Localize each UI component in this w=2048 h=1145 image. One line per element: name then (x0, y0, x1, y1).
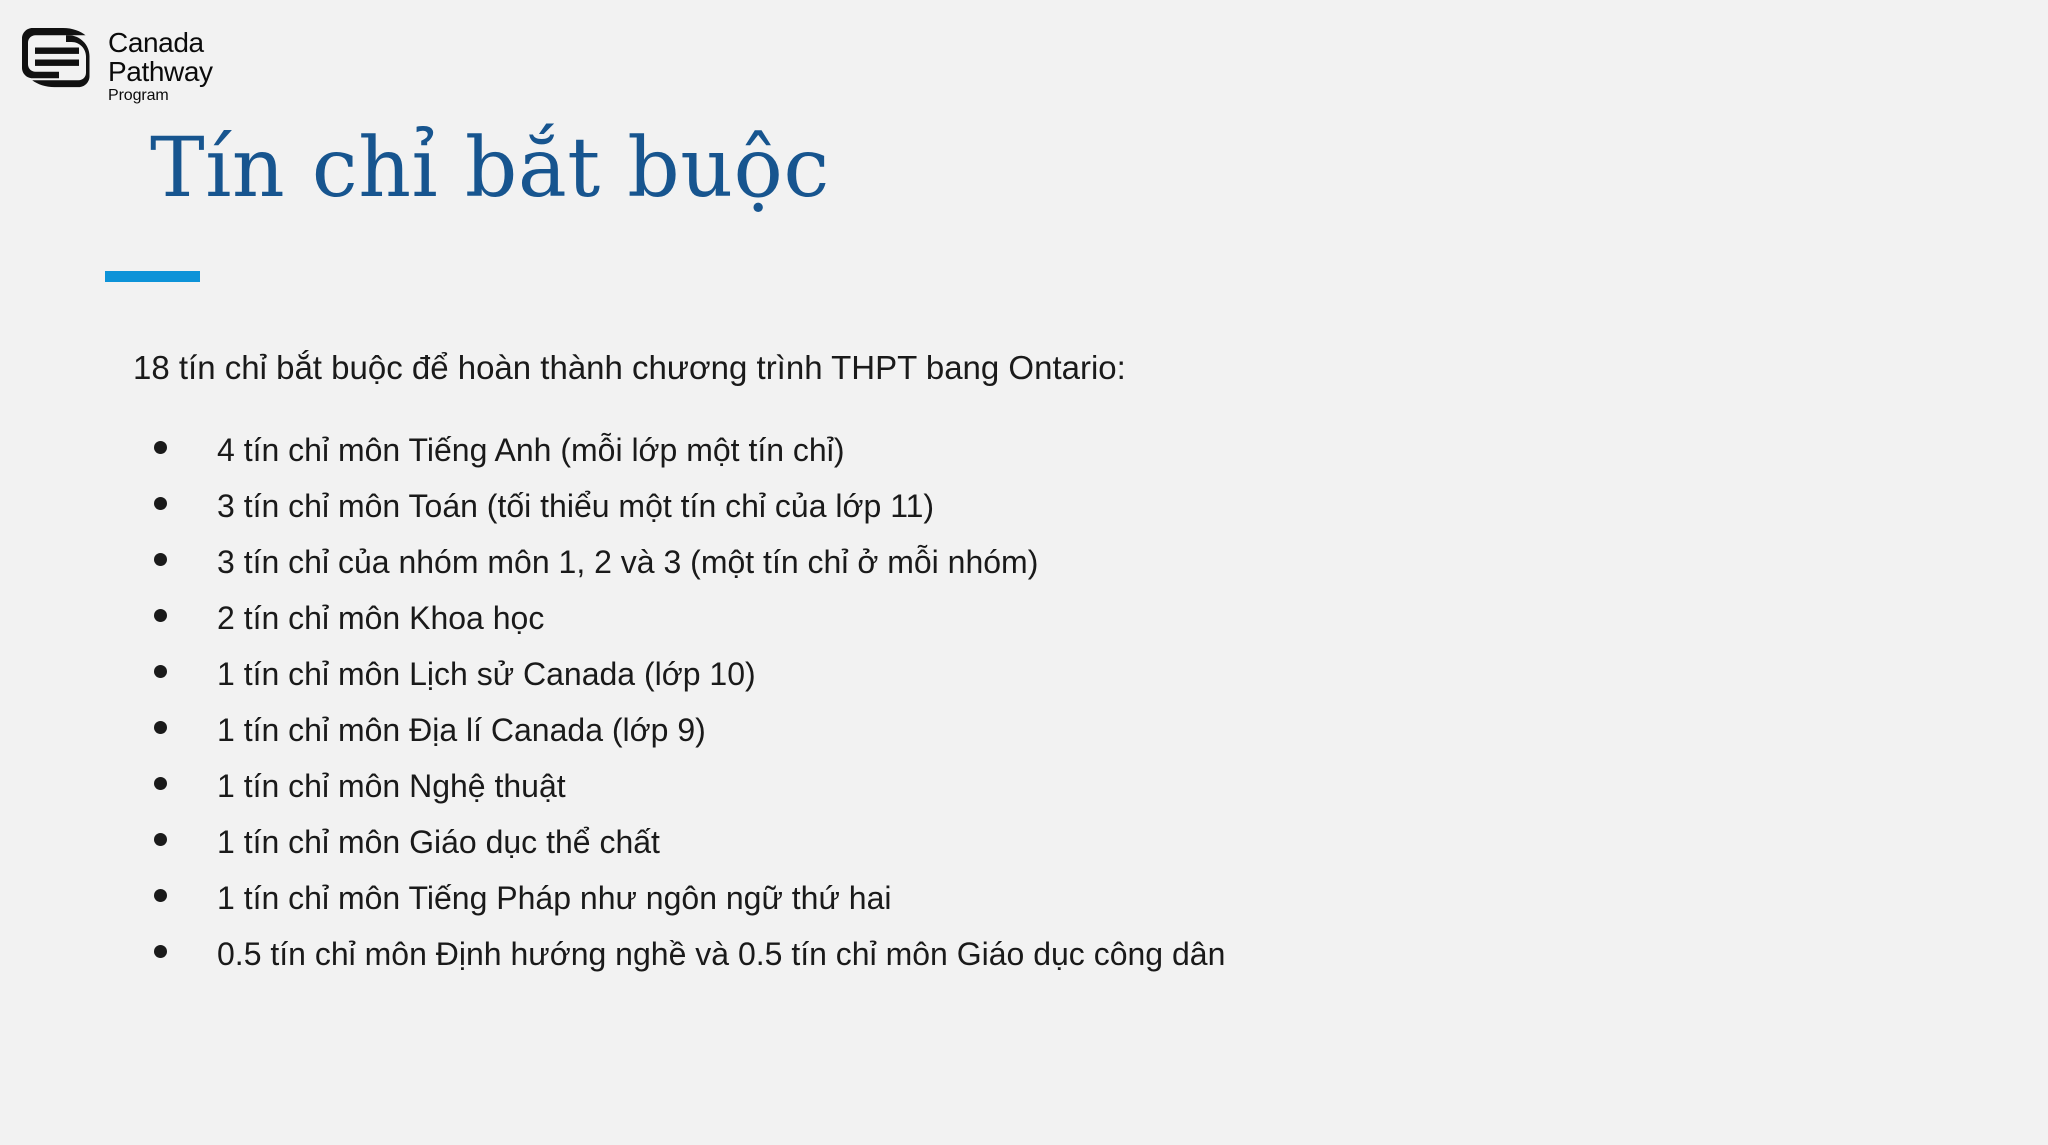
bullet-dot-icon (133, 553, 169, 566)
list-item-label: 1 tín chỉ môn Lịch sử Canada (lớp 10) (217, 658, 756, 690)
list-item: 1 tín chỉ môn Lịch sử Canada (lớp 10) (133, 658, 1225, 714)
list-item: 2 tín chỉ môn Khoa học (133, 602, 1225, 658)
bullet-dot-icon (133, 833, 169, 846)
list-item: 4 tín chỉ môn Tiếng Anh (mỗi lớp một tín… (133, 434, 1225, 490)
list-item-label: 2 tín chỉ môn Khoa học (217, 602, 544, 634)
list-item: 3 tín chỉ của nhóm môn 1, 2 và 3 (một tí… (133, 546, 1225, 602)
list-item-label: 1 tín chỉ môn Nghệ thuật (217, 770, 566, 802)
required-credits-list: 4 tín chỉ môn Tiếng Anh (mỗi lớp một tín… (133, 434, 1225, 994)
slide-canvas: Canada Pathway Program Tín chỉ bắt buộc … (0, 0, 2048, 1145)
bullet-dot-icon (133, 665, 169, 678)
list-item-label: 3 tín chỉ của nhóm môn 1, 2 và 3 (một tí… (217, 546, 1038, 578)
list-item: 1 tín chỉ môn Nghệ thuật (133, 770, 1225, 826)
page-title: Tín chỉ bắt buộc (150, 128, 830, 210)
list-item: 1 tín chỉ môn Tiếng Pháp như ngôn ngữ th… (133, 882, 1225, 938)
logo-line-program: Program (108, 88, 213, 104)
brand-logo: Canada Pathway Program (18, 26, 213, 104)
list-item: 0.5 tín chỉ môn Định hướng nghề và 0.5 t… (133, 938, 1225, 994)
list-item: 3 tín chỉ môn Toán (tối thiểu một tín ch… (133, 490, 1225, 546)
list-item-label: 3 tín chỉ môn Toán (tối thiểu một tín ch… (217, 490, 934, 522)
list-item-label: 4 tín chỉ môn Tiếng Anh (mỗi lớp một tín… (217, 434, 844, 466)
list-item: 1 tín chỉ môn Địa lí Canada (lớp 9) (133, 714, 1225, 770)
bullet-dot-icon (133, 441, 169, 454)
canada-pathway-logo-mark-icon (18, 26, 96, 94)
title-underline-rule (105, 271, 200, 282)
bullet-dot-icon (133, 889, 169, 902)
bullet-dot-icon (133, 721, 169, 734)
bullet-dot-icon (133, 497, 169, 510)
intro-paragraph: 18 tín chỉ bắt buộc để hoàn thành chương… (133, 348, 1126, 388)
bullet-dot-icon (133, 609, 169, 622)
logo-line-pathway: Pathway (108, 58, 213, 86)
list-item-label: 1 tín chỉ môn Địa lí Canada (lớp 9) (217, 714, 706, 746)
list-item-label: 1 tín chỉ môn Tiếng Pháp như ngôn ngữ th… (217, 882, 891, 914)
bullet-dot-icon (133, 945, 169, 958)
list-item: 1 tín chỉ môn Giáo dục thể chất (133, 826, 1225, 882)
list-item-label: 0.5 tín chỉ môn Định hướng nghề và 0.5 t… (217, 938, 1225, 970)
bullet-dot-icon (133, 777, 169, 790)
logo-line-canada: Canada (108, 29, 213, 57)
list-item-label: 1 tín chỉ môn Giáo dục thể chất (217, 826, 660, 858)
